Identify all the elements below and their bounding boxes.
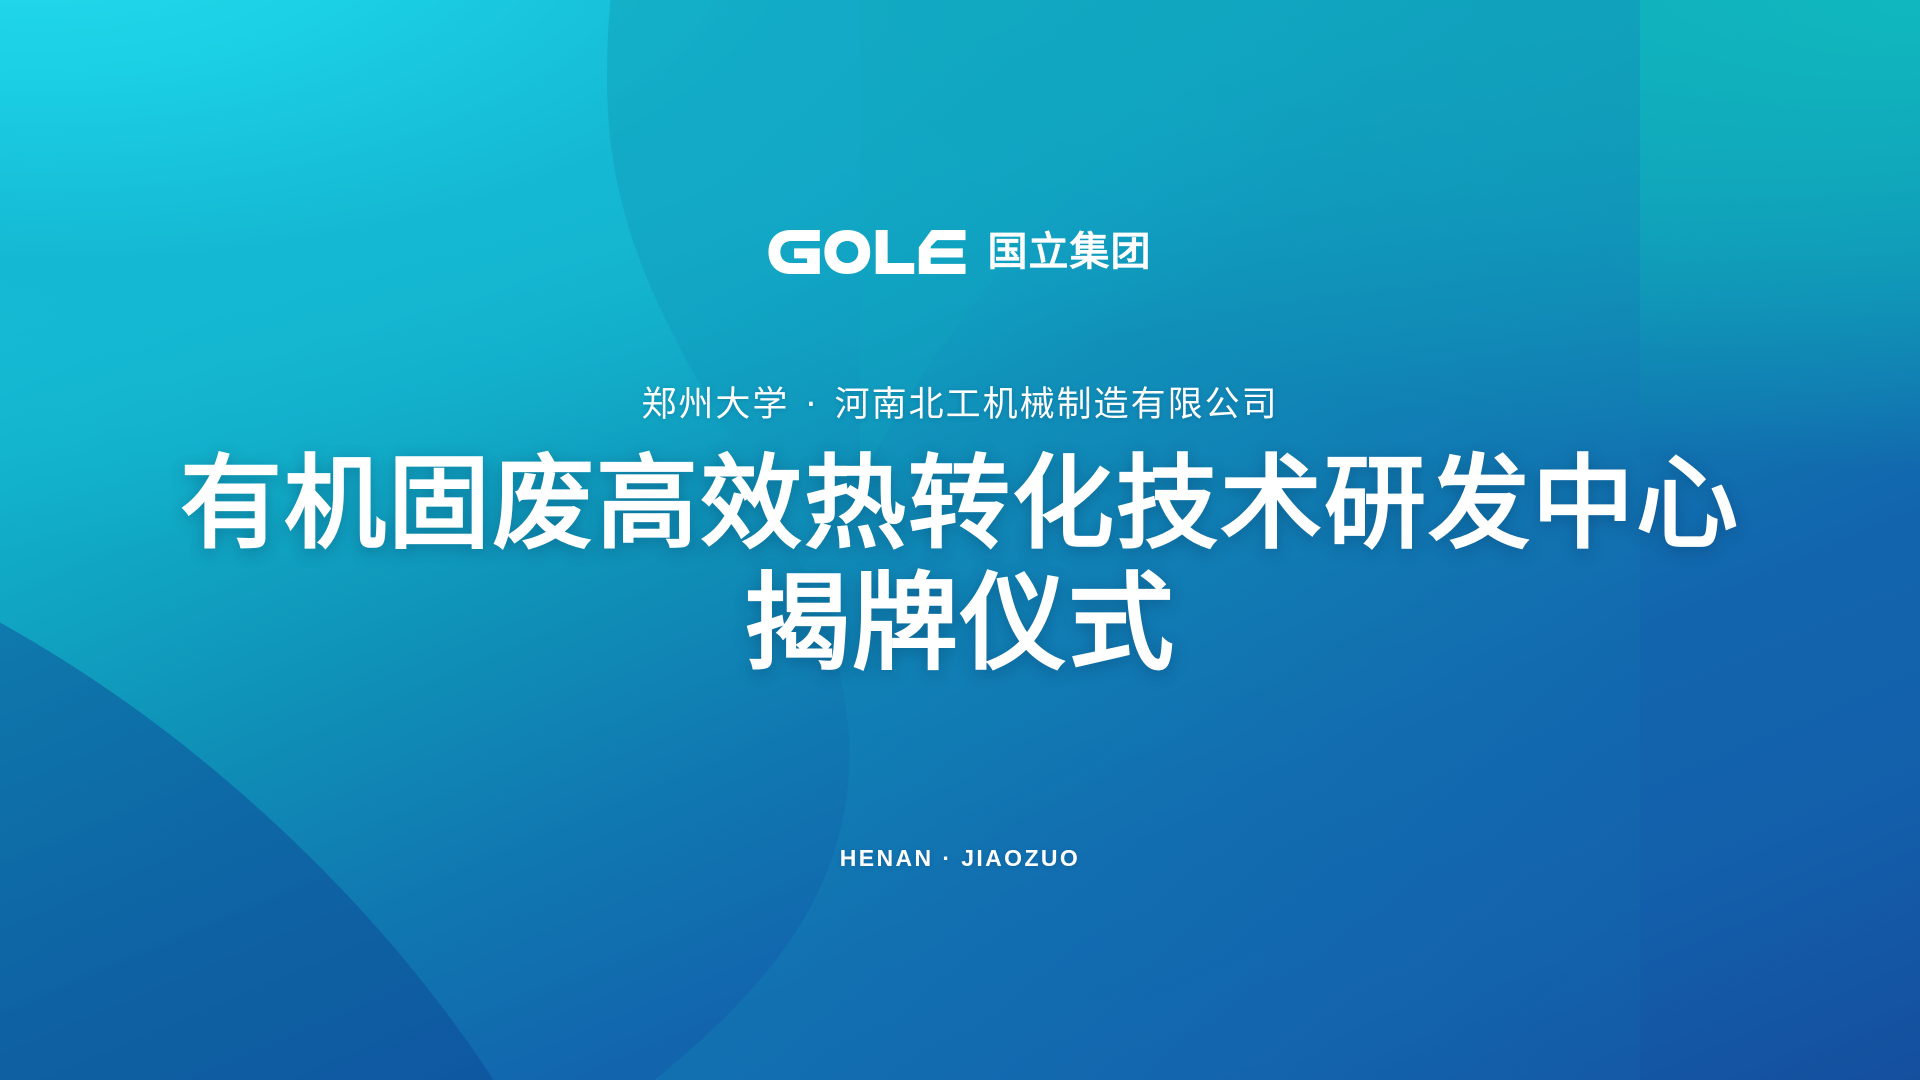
brand-name-cn: 国立集团 <box>988 232 1152 272</box>
subtitle: 郑州大学·河南北工机械制造有限公司 <box>641 384 1278 428</box>
subtitle-right: 河南北工机械制造有限公司 <box>835 385 1279 425</box>
page-title-line-1: 有机固废高效热转化技术研发中心 <box>0 452 1920 557</box>
gole-wordmark-logo-icon <box>768 230 965 274</box>
subtitle-separator: · <box>789 385 834 425</box>
page-title-line-2: 揭牌仪式 <box>0 569 1920 678</box>
page-title: 有机固废高效热转化技术研发中心 揭牌仪式 <box>0 452 1920 678</box>
subtitle-left: 郑州大学 <box>641 385 789 425</box>
footer-locale: HENAN · JIAOZUO <box>840 845 1080 872</box>
title-slide: 国立集团 郑州大学·河南北工机械制造有限公司 有机固废高效热转化技术研发中心 揭… <box>0 0 1920 1080</box>
slide-content: 国立集团 郑州大学·河南北工机械制造有限公司 有机固废高效热转化技术研发中心 揭… <box>0 0 1920 1080</box>
brand-logo: 国立集团 <box>768 228 1151 276</box>
